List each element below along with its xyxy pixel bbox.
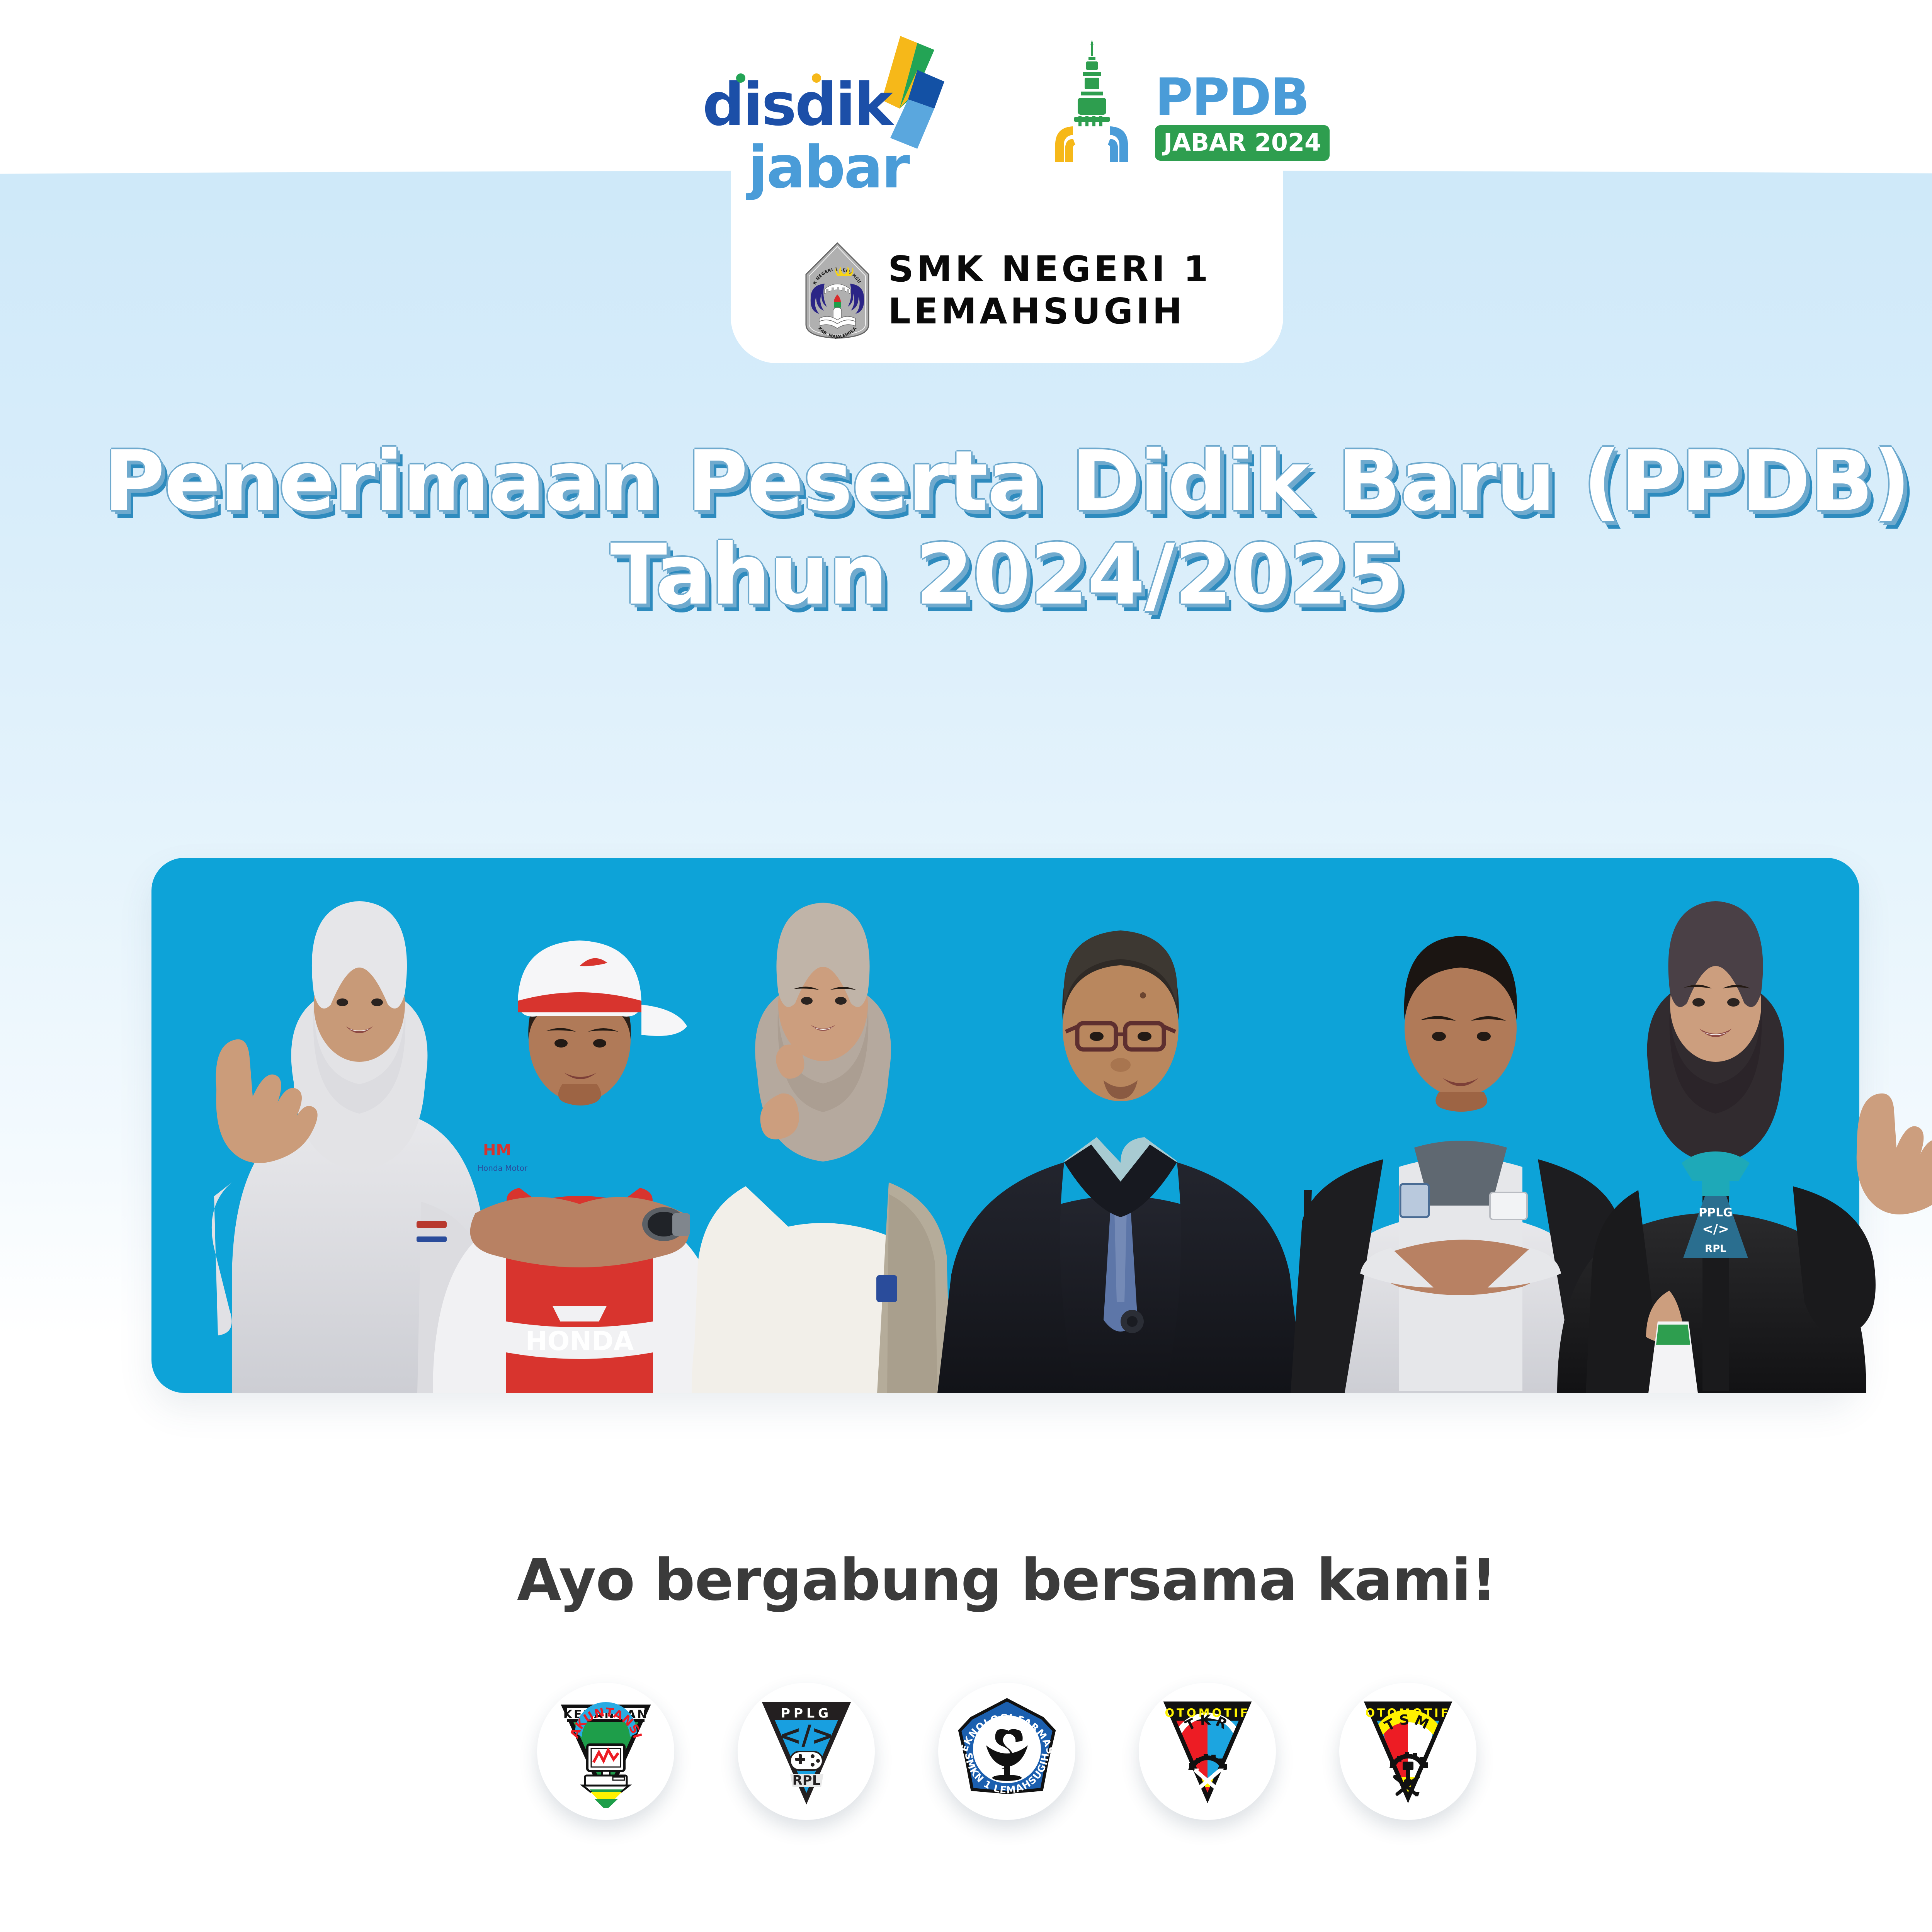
otomotif-tsm-icon: OTOMOTIF TSM [1352, 1695, 1464, 1808]
program-badge-otomotif-tsm[interactable]: OTOMOTIF TSM [1339, 1683, 1476, 1820]
ppdb-year-badge-label: JABAR 2024 [1163, 131, 1321, 155]
person-principal [937, 930, 1304, 1393]
svg-text:</>: </> [779, 1719, 834, 1751]
teknologi-farmasi-icon: TEKNOLOGI FARMASI SMKN 1 LEMAHSUGIH [951, 1695, 1063, 1808]
page-title: Penerimaan Peserta Didik Baru (PPDB) Tah… [0, 435, 1932, 622]
program-badge-pplg-rpl[interactable]: PPLG </> RPL [738, 1683, 875, 1820]
svg-text:HONDA: HONDA [526, 1326, 634, 1357]
ppdb-word: PPDB [1155, 74, 1330, 121]
gedung-sate-mark-icon [1033, 39, 1153, 163]
program-badges-row: KEUANGAN AKUNTANSI [0, 1683, 1932, 1820]
program-badge-keuangan-akuntansi[interactable]: KEUANGAN AKUNTANSI [537, 1683, 674, 1820]
call-to-action: Ayo bergabung bersama kami! [0, 1551, 1932, 1609]
person-student-5: PPLG </> RPL [1557, 901, 1932, 1393]
disdik-wordmark: disdik jabar [702, 75, 908, 197]
program-badge-otomotif-tkr[interactable]: OTOMOTIF TKR [1139, 1683, 1276, 1820]
title-line-1: Penerimaan Peserta Didik Baru (PPDB) [0, 435, 1932, 528]
students-photo-group: HONDA HM Honda Motor [0, 734, 1932, 1461]
program-badge-teknologi-farmasi[interactable]: TEKNOLOGI FARMASI SMKN 1 LEMAHSUGIH [938, 1683, 1075, 1820]
disdik-jabar-logo: disdik jabar [695, 37, 965, 164]
ppdb-year-badge: JABAR 2024 [1155, 125, 1330, 161]
ppdb-wordmark: PPDB JABAR 2024 [1155, 74, 1330, 161]
pplg-rpl-icon: PPLG </> RPL [750, 1695, 863, 1808]
disdik-yellow-dot-icon [812, 73, 821, 83]
keuangan-akuntansi-icon: KEUANGAN AKUNTANSI [549, 1695, 662, 1808]
school-crest-icon: SMK NEGERI 1 LEMAHSUGIH KAB. MAJALENG [802, 242, 872, 339]
ppdb-poster: disdik jabar [0, 0, 1932, 1932]
title-line-2: Tahun 2024/2025 [0, 528, 1932, 622]
school-name-line-2: LEMAHSUGIH [888, 291, 1211, 333]
logo-row: disdik jabar [0, 37, 1932, 164]
svg-text:PPLG: PPLG [781, 1706, 832, 1721]
svg-text:HM: HM [483, 1141, 511, 1159]
call-to-action-text: Ayo bergabung bersama kami! [0, 1551, 1932, 1609]
disdik-green-dot-icon [736, 73, 745, 83]
svg-text:RPL: RPL [792, 1773, 820, 1788]
school-name: SMK NEGERI 1 LEMAHSUGIH [888, 248, 1211, 332]
ppdb-jabar-logo: PPDB JABAR 2024 [1033, 37, 1319, 164]
svg-text:</>: </> [1702, 1221, 1729, 1237]
jabar-word: jabar [748, 139, 908, 197]
student-photo-band: HONDA HM Honda Motor [0, 734, 1932, 1461]
svg-text:PPLG: PPLG [1699, 1206, 1733, 1219]
school-banner-inner: SMK NEGERI 1 LEMAHSUGIH KAB. MAJALENG [802, 242, 1211, 339]
person-student-3 [692, 903, 954, 1393]
disdik-word: disdik [702, 75, 908, 134]
svg-text:RPL: RPL [1705, 1243, 1726, 1255]
otomotif-tkr-icon: OTOMOTIF TKR [1151, 1695, 1264, 1808]
person-student-2: HONDA HM Honda Motor [433, 940, 726, 1393]
school-name-line-1: SMK NEGERI 1 [888, 248, 1211, 291]
svg-text:Honda Motor: Honda Motor [478, 1163, 528, 1173]
